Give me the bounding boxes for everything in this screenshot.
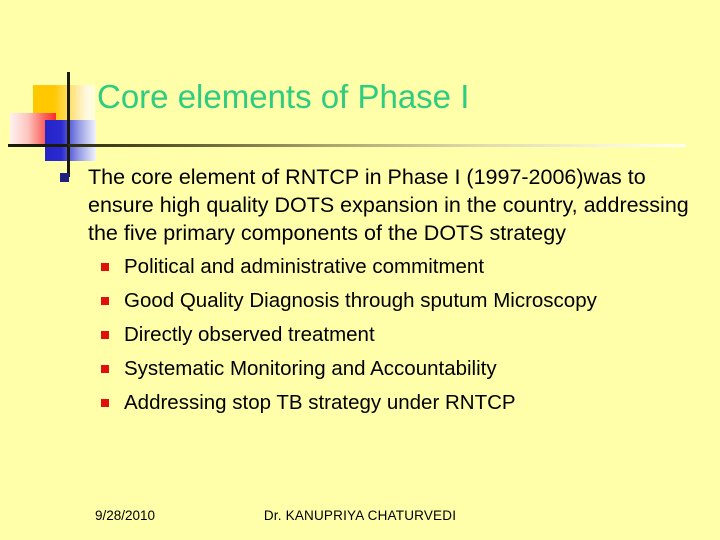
- title-divider: [68, 144, 686, 147]
- slide-footer: 9/28/2010 Dr. KANUPRIYA CHATURVEDI: [0, 508, 720, 526]
- sub-bullet-item: Directly observed treatment: [0, 320, 720, 349]
- sub-bullet-item: Good Quality Diagnosis through sputum Mi…: [0, 286, 720, 315]
- main-bullet-item: The core element of RNTCP in Phase I (19…: [0, 163, 720, 247]
- slide: Core elements of Phase I The core elemen…: [0, 0, 720, 540]
- sub-bullet-text: Directly observed treatment: [124, 323, 375, 346]
- sub-bullet-text: Good Quality Diagnosis through sputum Mi…: [124, 289, 597, 312]
- sub-bullet-text: Systematic Monitoring and Accountability: [124, 357, 497, 380]
- square-bullet-icon: [101, 331, 109, 339]
- slide-title: Core elements of Phase I: [97, 77, 469, 117]
- square-bullet-icon: [60, 173, 69, 182]
- square-bullet-icon: [101, 399, 109, 407]
- sub-bullet-item: Addressing stop TB strategy under RNTCP: [0, 388, 720, 417]
- sub-bullet-text: Political and administrative commitment: [124, 255, 484, 278]
- sub-bullet-item: Systematic Monitoring and Accountability: [0, 354, 720, 383]
- sub-bullet-text: Addressing stop TB strategy under RNTCP: [124, 391, 516, 414]
- slide-body: The core element of RNTCP in Phase I (19…: [0, 163, 720, 422]
- sub-bullet-list: Political and administrative commitment …: [0, 252, 720, 417]
- decorative-vertical-line: [67, 72, 70, 177]
- decorative-blue-rectangle: [45, 120, 96, 161]
- square-bullet-icon: [101, 365, 109, 373]
- footer-author: Dr. KANUPRIYA CHATURVEDI: [0, 508, 720, 523]
- square-bullet-icon: [101, 297, 109, 305]
- square-bullet-icon: [101, 263, 109, 271]
- main-bullet-text: The core element of RNTCP in Phase I (19…: [88, 165, 689, 245]
- sub-bullet-item: Political and administrative commitment: [0, 252, 720, 281]
